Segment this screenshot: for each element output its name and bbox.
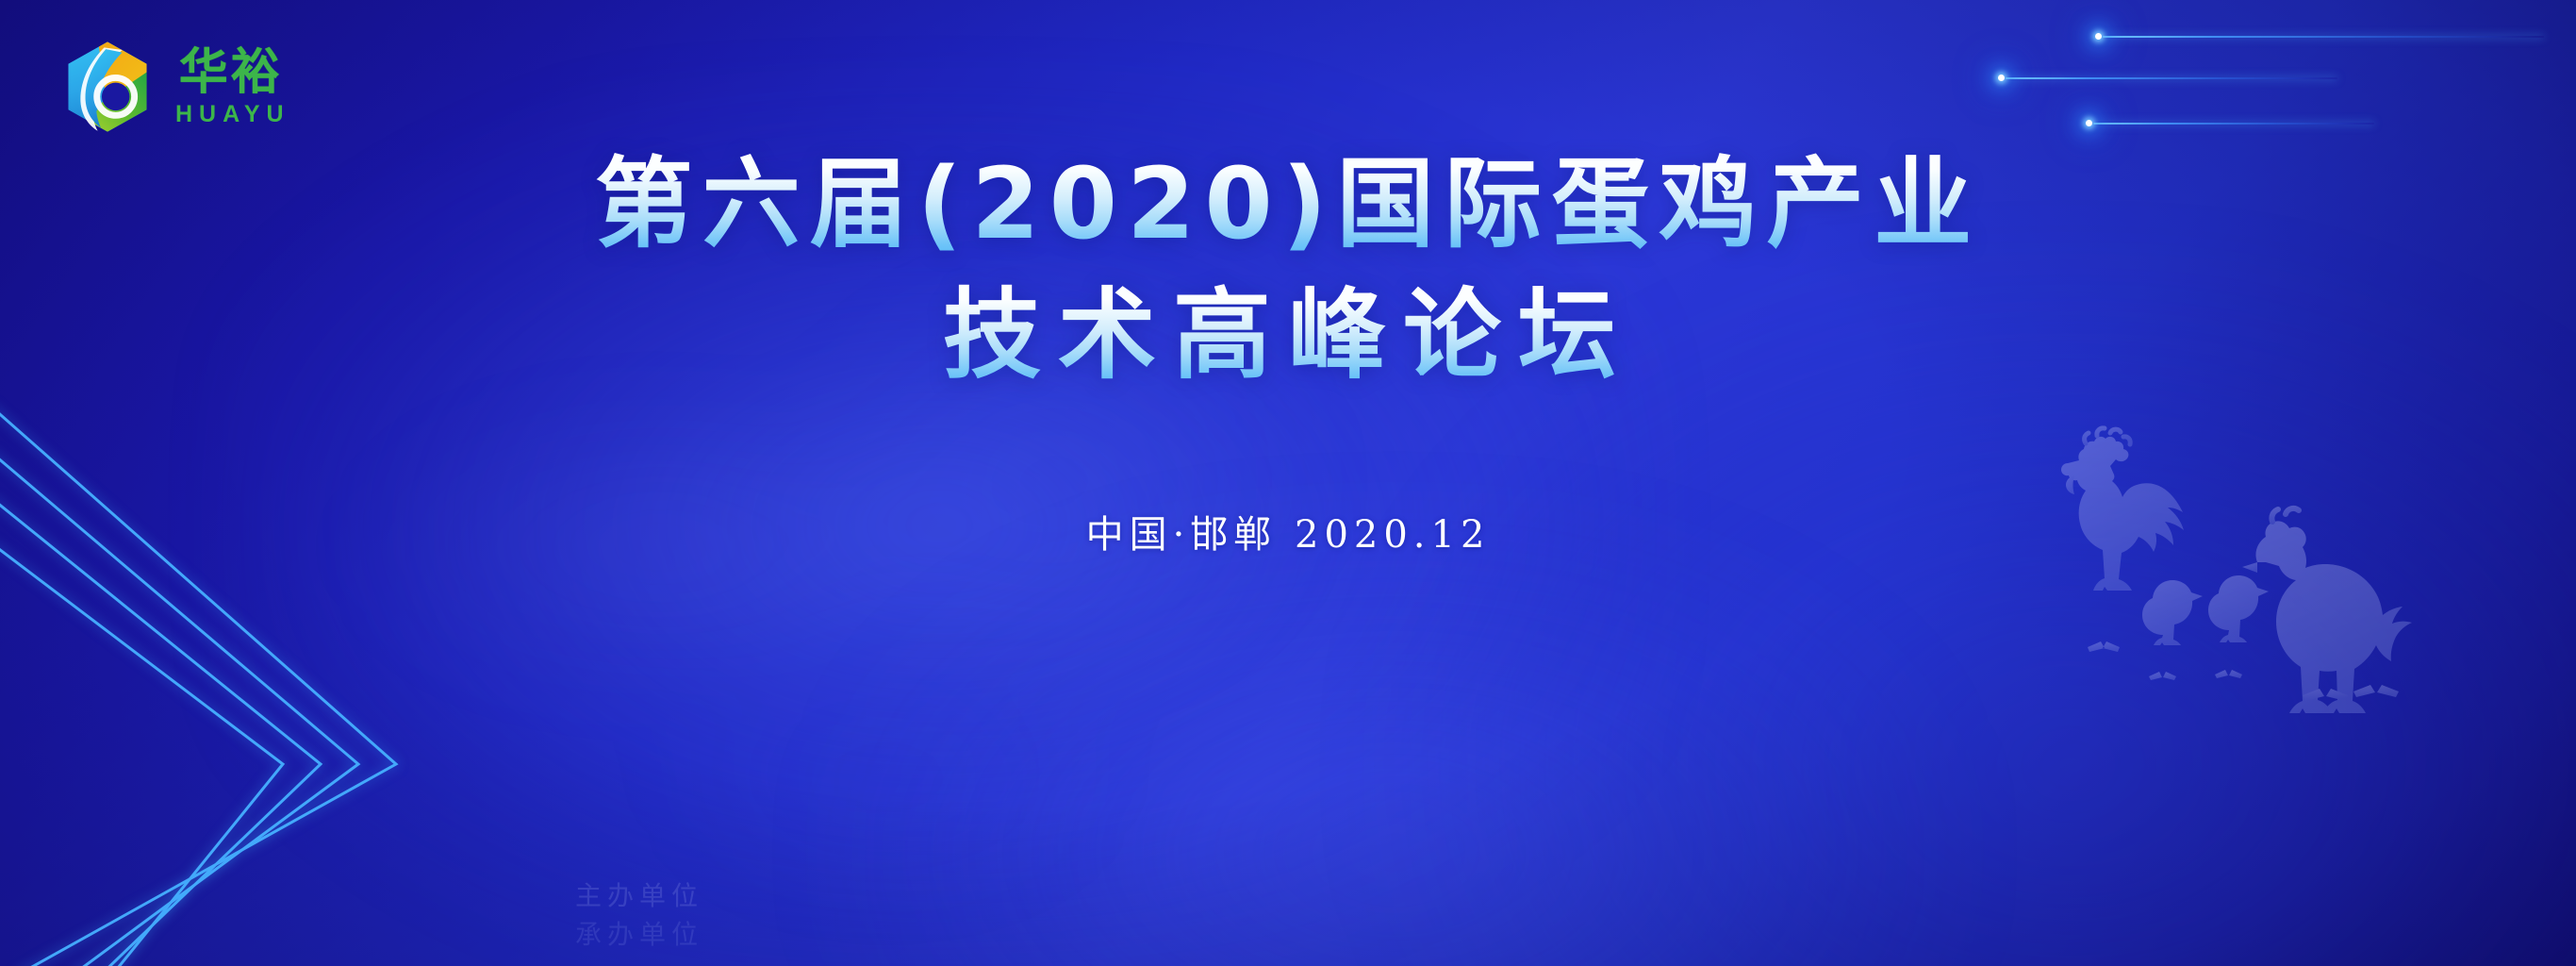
brand-name-cn: 华裕 xyxy=(179,48,283,97)
huayu-hexagon-logo-icon xyxy=(58,38,157,136)
background-gradient xyxy=(0,0,2576,966)
event-banner: 华裕 HUAYU 第六届(2020)国际蛋鸡产业 技术高峰论坛 中国·邯郸 20… xyxy=(0,0,2576,966)
brand-logo: 华裕 HUAYU xyxy=(58,38,290,136)
brand-name-en: HUAYU xyxy=(175,103,290,126)
